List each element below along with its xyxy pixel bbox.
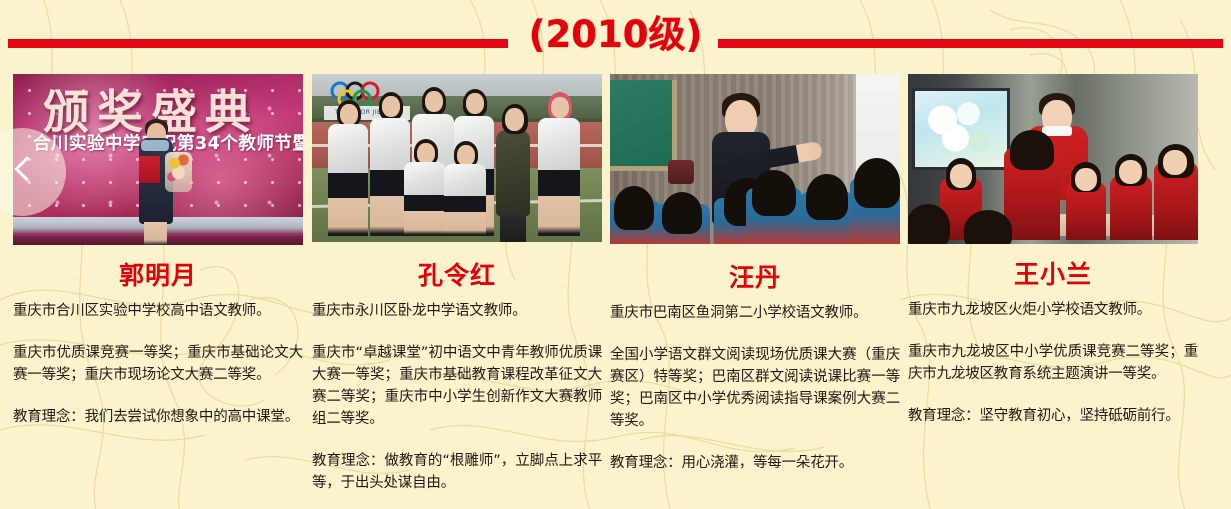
photo-4-student-4-face xyxy=(1119,160,1142,184)
teacher-position-1: 重庆市合川区实验中学校高中语文教师。 xyxy=(13,300,303,322)
teacher-awards-1: 重庆市优质课竞赛一等奖；重庆市基础论文大赛一等奖；重庆市现场论文大赛二等奖。 xyxy=(13,342,303,386)
photo-2-student-7 xyxy=(444,164,486,236)
teacher-name-2: 孔令红 xyxy=(312,261,602,291)
photo-3-student-6-hair xyxy=(854,158,900,208)
photo-4-student-6-hair xyxy=(908,204,950,244)
photo-1-person-scarf xyxy=(141,140,169,151)
chevron-left-icon xyxy=(14,156,39,181)
teacher-photo-3[interactable] xyxy=(610,74,900,244)
teacher-card-2: THE DOOR JIEFANG xyxy=(312,74,602,494)
page-title: (2010级) xyxy=(0,12,1231,58)
teacher-position-4: 重庆市九龙坡区火炬小学校语文教师。 xyxy=(908,299,1198,321)
teacher-name-3: 汪丹 xyxy=(610,263,900,293)
photo-1-bouquet xyxy=(165,152,192,192)
teacher-position-2: 重庆市永川区卧龙中学语文教师。 xyxy=(312,300,602,322)
photo-3-student-5-hair xyxy=(806,174,848,220)
teacher-philosophy-2: 教育理念：做教育的“根雕师”，立脚点上求平等，于出头处谋自由。 xyxy=(312,450,602,494)
photo-4-student-2-hair xyxy=(1010,130,1054,170)
teacher-philosophy-3: 教育理念：用心浇灌，等每一朵花开。 xyxy=(610,452,900,474)
teacher-awards-3: 全国小学语文群文阅读现场优质课大赛（重庆赛区）特等奖；巴南区群文阅读说课比赛一等… xyxy=(610,344,900,432)
page-header: (2010级) xyxy=(0,0,1231,74)
teacher-awards-2: 重庆市“卓越课堂”初中语文中青年教师优质课大赛一等奖；重庆市基础教育课程改革征文… xyxy=(312,342,602,430)
photo-2-student-1 xyxy=(328,124,368,236)
photo-2-teacher-legs xyxy=(500,216,526,242)
photo-4-student-3-face xyxy=(1075,168,1097,191)
photo-3-student-1-hair xyxy=(614,186,654,230)
photo-1-certificate xyxy=(139,156,160,183)
photo-1-person-legs xyxy=(144,222,167,245)
photo-3-student-2-hair xyxy=(662,192,702,234)
teacher-position-3: 重庆市巴南区鱼洞第二小学校语文教师。 xyxy=(610,302,900,324)
teacher-name-4: 王小兰 xyxy=(908,260,1198,290)
photo-4-student-7-hair xyxy=(964,210,1012,244)
photo-4-screen-content xyxy=(915,91,1007,167)
photo-2-teacher-head xyxy=(505,108,524,131)
photo-4-student-1-face xyxy=(950,164,972,188)
teacher-photo-4[interactable] xyxy=(908,74,1198,244)
photo-2-teacher-coat xyxy=(496,130,530,216)
photo-3-chalkboard xyxy=(610,80,677,171)
teacher-philosophy-1: 教育理念：我们去尝试你想象中的高中课堂。 xyxy=(13,406,303,428)
teacher-card-1: 颁奖盛典 合川实验中学庆祝第34个教师节暨 郭明月 重庆市合川区实验中学校高中语… xyxy=(13,74,303,428)
photo-4-student-5-face xyxy=(1163,150,1187,175)
teacher-name-1: 郭明月 xyxy=(13,261,303,291)
photo-3-handbag xyxy=(668,160,694,184)
photo-3-student-4-hair xyxy=(752,170,796,216)
teacher-awards-4: 重庆市九龙坡区中小学优质课竞赛二等奖；重庆市九龙坡区教育系统主题演讲一等奖。 xyxy=(908,341,1198,385)
teacher-philosophy-4: 教育理念：坚守教育初心，坚持砥砺前行。 xyxy=(908,405,1198,427)
photo-2-student-6 xyxy=(404,162,446,236)
teacher-photo-2[interactable]: THE DOOR JIEFANG xyxy=(312,74,602,242)
teacher-card-3: 汪丹 重庆市巴南区鱼洞第二小学校语文教师。 全国小学语文群文阅读现场优质课大赛（… xyxy=(610,74,900,474)
photo-2-student-5 xyxy=(538,118,580,236)
teacher-card-4: 王小兰 重庆市九龙坡区火炬小学校语文教师。 重庆市九龙坡区中小学优质课竞赛二等奖… xyxy=(908,74,1198,427)
